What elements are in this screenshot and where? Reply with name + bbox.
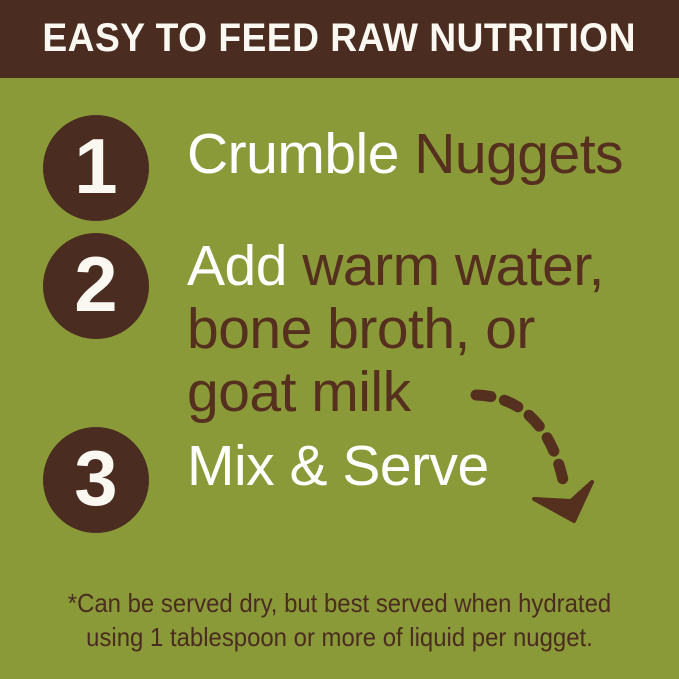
- step-2-line-3: goat milk: [187, 361, 604, 424]
- step-number-1: 1: [74, 127, 117, 209]
- step-text-2: Add warm water, bone broth, or goat milk: [187, 233, 604, 424]
- step-number-badge-2: 2: [43, 233, 149, 339]
- step-text-1: Crumble Nuggets: [187, 115, 623, 186]
- step-number-2: 2: [74, 245, 117, 327]
- page-title: EASY TO FEED RAW NUTRITION: [43, 18, 637, 60]
- raw-nutrition-feeding-instructions-poster: EASY TO FEED RAW NUTRITION 1 Crumble Nug…: [0, 0, 679, 679]
- step-text-3: Mix & Serve: [187, 427, 489, 498]
- step-number-badge-3: 3: [43, 427, 149, 533]
- step-1-brown-text: Nuggets: [399, 122, 623, 186]
- header-banner: EASY TO FEED RAW NUTRITION: [0, 0, 679, 78]
- footnote-line-2: using 1 tablespoon or more of liquid per…: [27, 620, 652, 654]
- step-item-1: 1 Crumble Nuggets: [0, 115, 679, 221]
- step-2-white-text: Add: [187, 234, 287, 298]
- step-2-brown-text: warm water,: [287, 234, 604, 298]
- step-3-white-text: Mix & Serve: [187, 434, 489, 498]
- step-number-badge-1: 1: [43, 115, 149, 221]
- footnote-line-1: *Can be served dry, but best served when…: [27, 586, 652, 620]
- step-item-2: 2 Add warm water, bone broth, or goat mi…: [0, 233, 679, 424]
- step-2-line-1: Add warm water,: [187, 235, 604, 298]
- steps-list: 1 Crumble Nuggets 2 Add warm water, bone…: [0, 78, 679, 558]
- step-item-3: 3 Mix & Serve: [0, 427, 679, 533]
- step-1-white-text: Crumble: [187, 122, 399, 186]
- step-2-line-2: bone broth, or: [187, 298, 604, 361]
- step-number-3: 3: [74, 439, 117, 521]
- footnote: *Can be served dry, but best served when…: [27, 586, 652, 654]
